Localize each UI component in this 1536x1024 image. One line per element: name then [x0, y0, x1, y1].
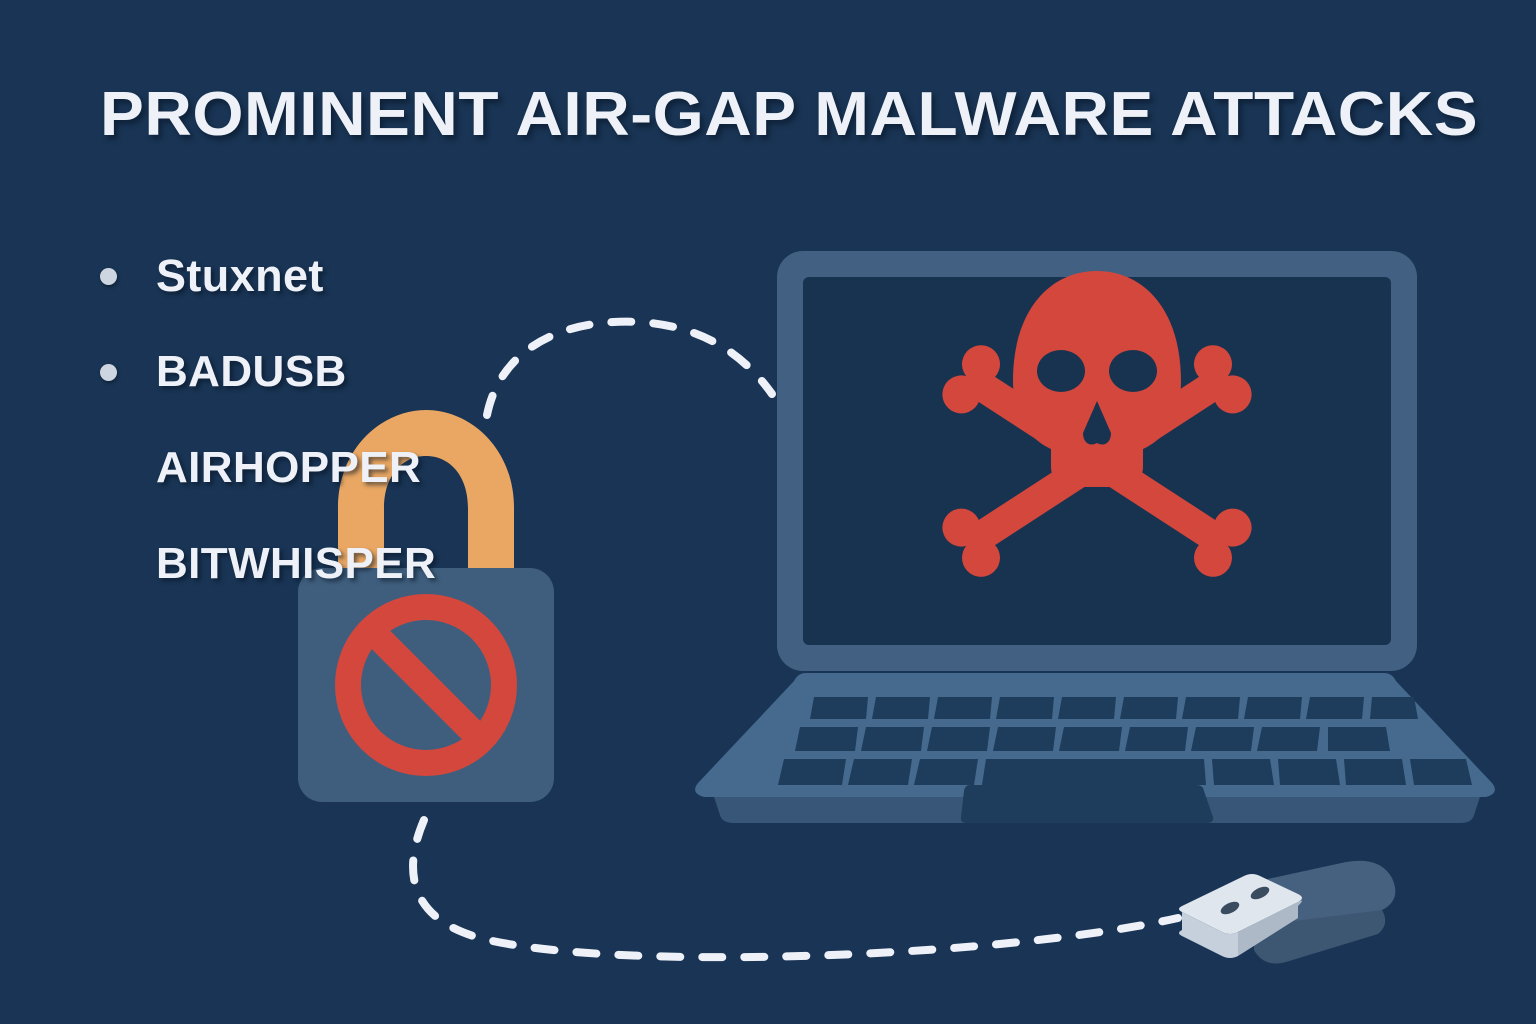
key-row-3 — [778, 759, 1472, 785]
infographic-canvas: PROMINENT AIR-GAP MALWARE ATTACKS Stuxne… — [0, 0, 1536, 1024]
skull-eye-right — [1109, 350, 1157, 392]
laptop-base-shadow — [714, 797, 1480, 823]
bullet-icon — [100, 268, 117, 285]
key-row-2 — [795, 727, 1390, 751]
list-item: AIRHOPPER — [100, 420, 620, 516]
skull-eye-left — [1037, 350, 1085, 392]
attack-name-airhopper: AIRHOPPER — [156, 443, 421, 493]
key-row-1 — [810, 697, 1418, 719]
attack-name-bitwhisper: BITWHISPER — [156, 539, 436, 589]
bullet-icon — [100, 364, 117, 381]
attack-name-badusb: BADUSB — [156, 347, 347, 397]
laptop-icon — [690, 245, 1500, 845]
usb-flash-drive-icon — [1168, 852, 1408, 992]
attack-list: Stuxnet BADUSB AIRHOPPER BITWHISPER — [100, 228, 620, 612]
bullet-slot — [100, 364, 156, 381]
list-item: BITWHISPER — [100, 516, 620, 612]
list-item: Stuxnet — [100, 228, 620, 324]
key-spacebar — [982, 759, 1206, 785]
list-item: BADUSB — [100, 324, 620, 420]
attack-name-stuxnet: Stuxnet — [156, 250, 324, 302]
bullet-slot — [100, 268, 156, 285]
page-title: PROMINENT AIR-GAP MALWARE ATTACKS — [100, 82, 1536, 147]
